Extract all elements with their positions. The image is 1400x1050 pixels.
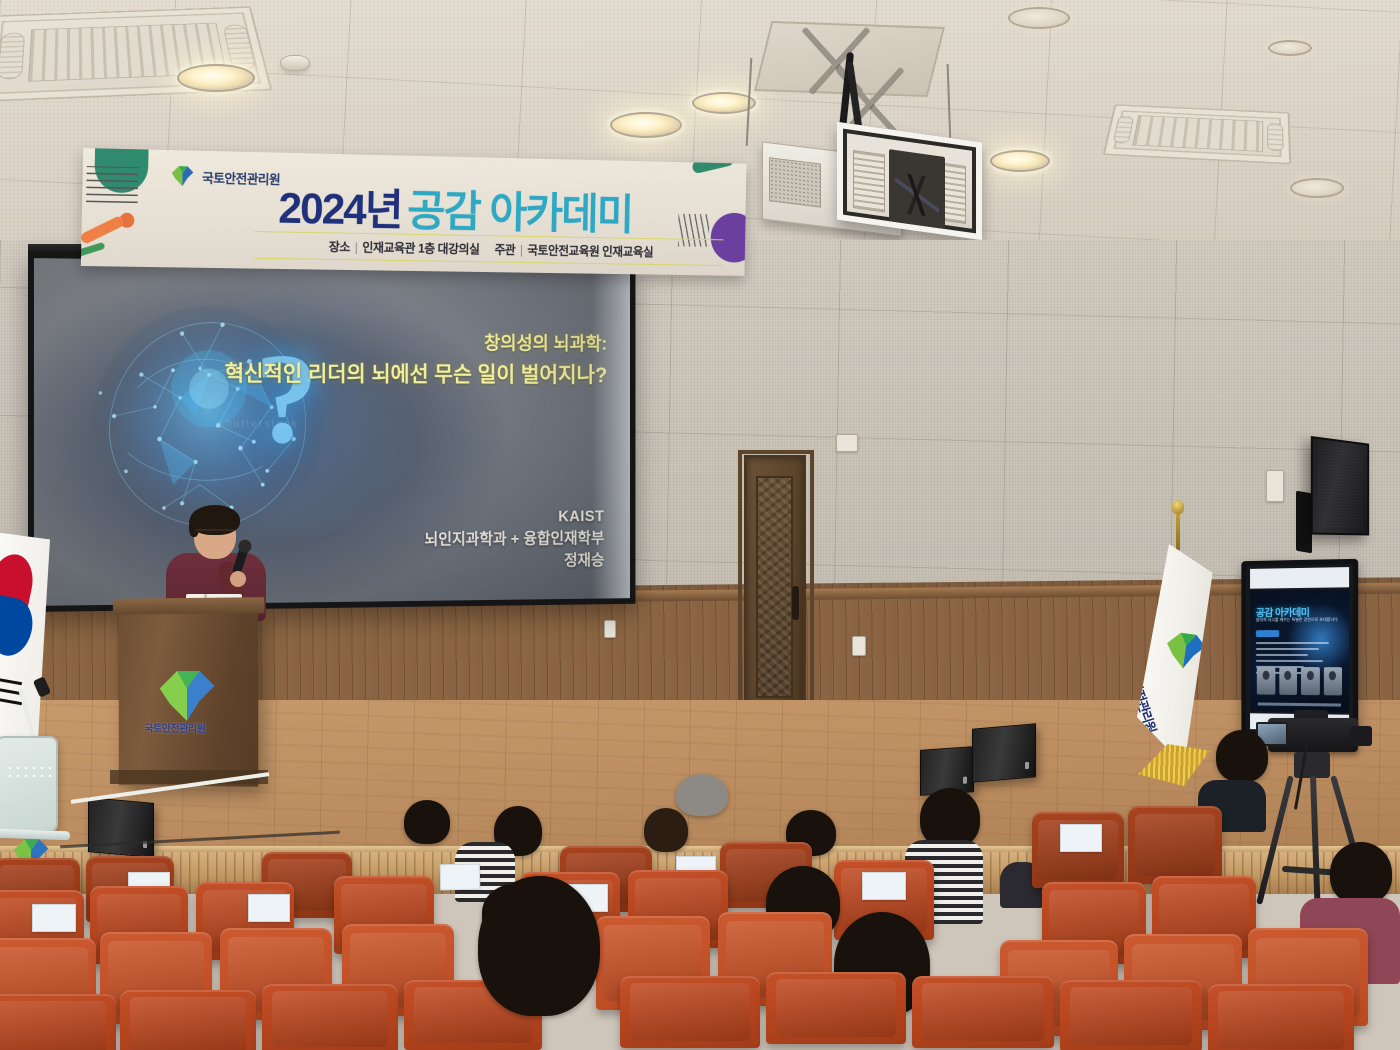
- audience-head: [1330, 842, 1392, 904]
- projection-screen: ? 창의성의 뇌과학: 혁신적인 리더의 뇌에선 무슨 일이 벌어지나? KAI…: [28, 252, 635, 612]
- wall-outlet-plate[interactable]: [852, 636, 866, 656]
- banner-host-label: 주관: [494, 243, 515, 257]
- flag-finial: [1172, 500, 1184, 514]
- door-glass-panel: [756, 476, 793, 698]
- kalis-logo-icon: [169, 164, 195, 188]
- table-row[interactable]: [0, 994, 116, 1050]
- event-banner: 국토안전관리원 2024년공감 아카데미 장소|인재교육관 1층 대강의실주관|…: [81, 148, 747, 276]
- seat-namecard: [1060, 824, 1102, 852]
- ceiling-downlight: [990, 150, 1050, 172]
- flag-pole: [1176, 510, 1180, 550]
- ceiling-downlight: [692, 92, 756, 114]
- banner-deco-bar: [81, 215, 125, 245]
- signage-speaker-photos: [1257, 667, 1342, 696]
- signage-badge: [1256, 630, 1279, 637]
- audience-head: [1216, 730, 1268, 782]
- banner-org-name: 국토안전관리원: [202, 167, 280, 187]
- ceiling-downlight: [177, 64, 255, 92]
- camera-lens-icon: [1350, 726, 1372, 746]
- smoke-detector-icon: [280, 55, 310, 71]
- wall-speaker: [1311, 436, 1369, 535]
- table-row[interactable]: [262, 984, 398, 1050]
- signage-poster-subtitle: 창의적 사고를 깨우는 특별한 강연으로 초대합니다: [1256, 617, 1343, 624]
- speaker-bracket: [1296, 491, 1312, 554]
- screen-glare: [592, 265, 630, 598]
- projector-cage: [837, 122, 982, 240]
- podium-org-name: 국토안전관리원: [144, 720, 205, 735]
- av-cart-buttons[interactable]: [6, 764, 52, 780]
- ceiling-downlight: [610, 112, 682, 138]
- stage-monitor-speaker: [972, 723, 1036, 783]
- ceiling-downlight: [1268, 40, 1312, 56]
- podium: 국토안전관리원: [119, 607, 258, 786]
- banner-logo-row: 국토안전관리원: [169, 164, 280, 190]
- auditorium-scene: ? 창의성의 뇌과학: 혁신적인 리더의 뇌에선 무슨 일이 벌어지나? KAI…: [0, 0, 1400, 1050]
- ceiling-downlight: [1008, 7, 1070, 29]
- wall-outlet-plate[interactable]: [604, 620, 616, 638]
- kalis-logo-icon: [1159, 627, 1211, 680]
- wall-control-plate[interactable]: [836, 434, 858, 452]
- signage-footer: [1258, 702, 1341, 706]
- banner-place-label: 장소: [329, 240, 351, 254]
- table-row[interactable]: [620, 976, 760, 1048]
- seat-namecard: [32, 904, 76, 932]
- signage-top-band: [1250, 567, 1349, 589]
- audience-head: [404, 800, 450, 844]
- banner-host-value: 국토안전교육원 인재교육실: [527, 244, 653, 260]
- seat-namecard: [248, 894, 290, 922]
- audience-head: [676, 774, 728, 816]
- banner-deco-bar2: [81, 242, 106, 257]
- seat-namecard: [440, 864, 480, 891]
- glasses-icon: [196, 529, 234, 538]
- signage-poster: 공감 아카데미 창의적 사고를 깨우는 특별한 강연으로 초대합니다: [1250, 589, 1349, 712]
- table-row[interactable]: [1208, 984, 1354, 1050]
- ac-vent-right: [1103, 104, 1292, 164]
- banner-sep: |: [355, 241, 358, 255]
- ceiling-projector: [752, 24, 952, 234]
- table-row[interactable]: [1060, 980, 1202, 1050]
- audience-head: [644, 808, 688, 852]
- door-handle-icon[interactable]: [792, 586, 799, 620]
- exit-door[interactable]: [744, 455, 806, 725]
- table-row[interactable]: [1128, 806, 1222, 884]
- projector-hanging-wire: [947, 64, 952, 144]
- wall-outlet-plate[interactable]: [1266, 470, 1284, 502]
- taegeuk-blue: [0, 594, 38, 659]
- ceiling-downlight: [1290, 178, 1344, 198]
- banner-place-value: 인재교육관 1층 대강의실: [362, 241, 479, 257]
- banner-title-main: 공감 아카데미: [407, 187, 633, 239]
- presenter-hand: [230, 571, 246, 587]
- banner-title-year: 2024년: [278, 184, 402, 234]
- banner-sep: |: [520, 244, 523, 258]
- flag-cloth: 국토안전관리원: [1132, 544, 1216, 766]
- table-row[interactable]: [120, 990, 256, 1050]
- table-row[interactable]: [766, 972, 906, 1044]
- audience-head: [920, 788, 980, 848]
- podium-top: [113, 597, 264, 615]
- banner-deco-stripes: [86, 166, 138, 203]
- table-row[interactable]: [912, 976, 1054, 1048]
- audience-seating: [0, 780, 1400, 1050]
- presentation-slide: ? 창의성의 뇌과학: 혁신적인 리더의 뇌에선 무슨 일이 벌어지나? KAI…: [34, 258, 630, 606]
- seat-namecard: [862, 872, 906, 900]
- audience-head: [478, 876, 600, 1016]
